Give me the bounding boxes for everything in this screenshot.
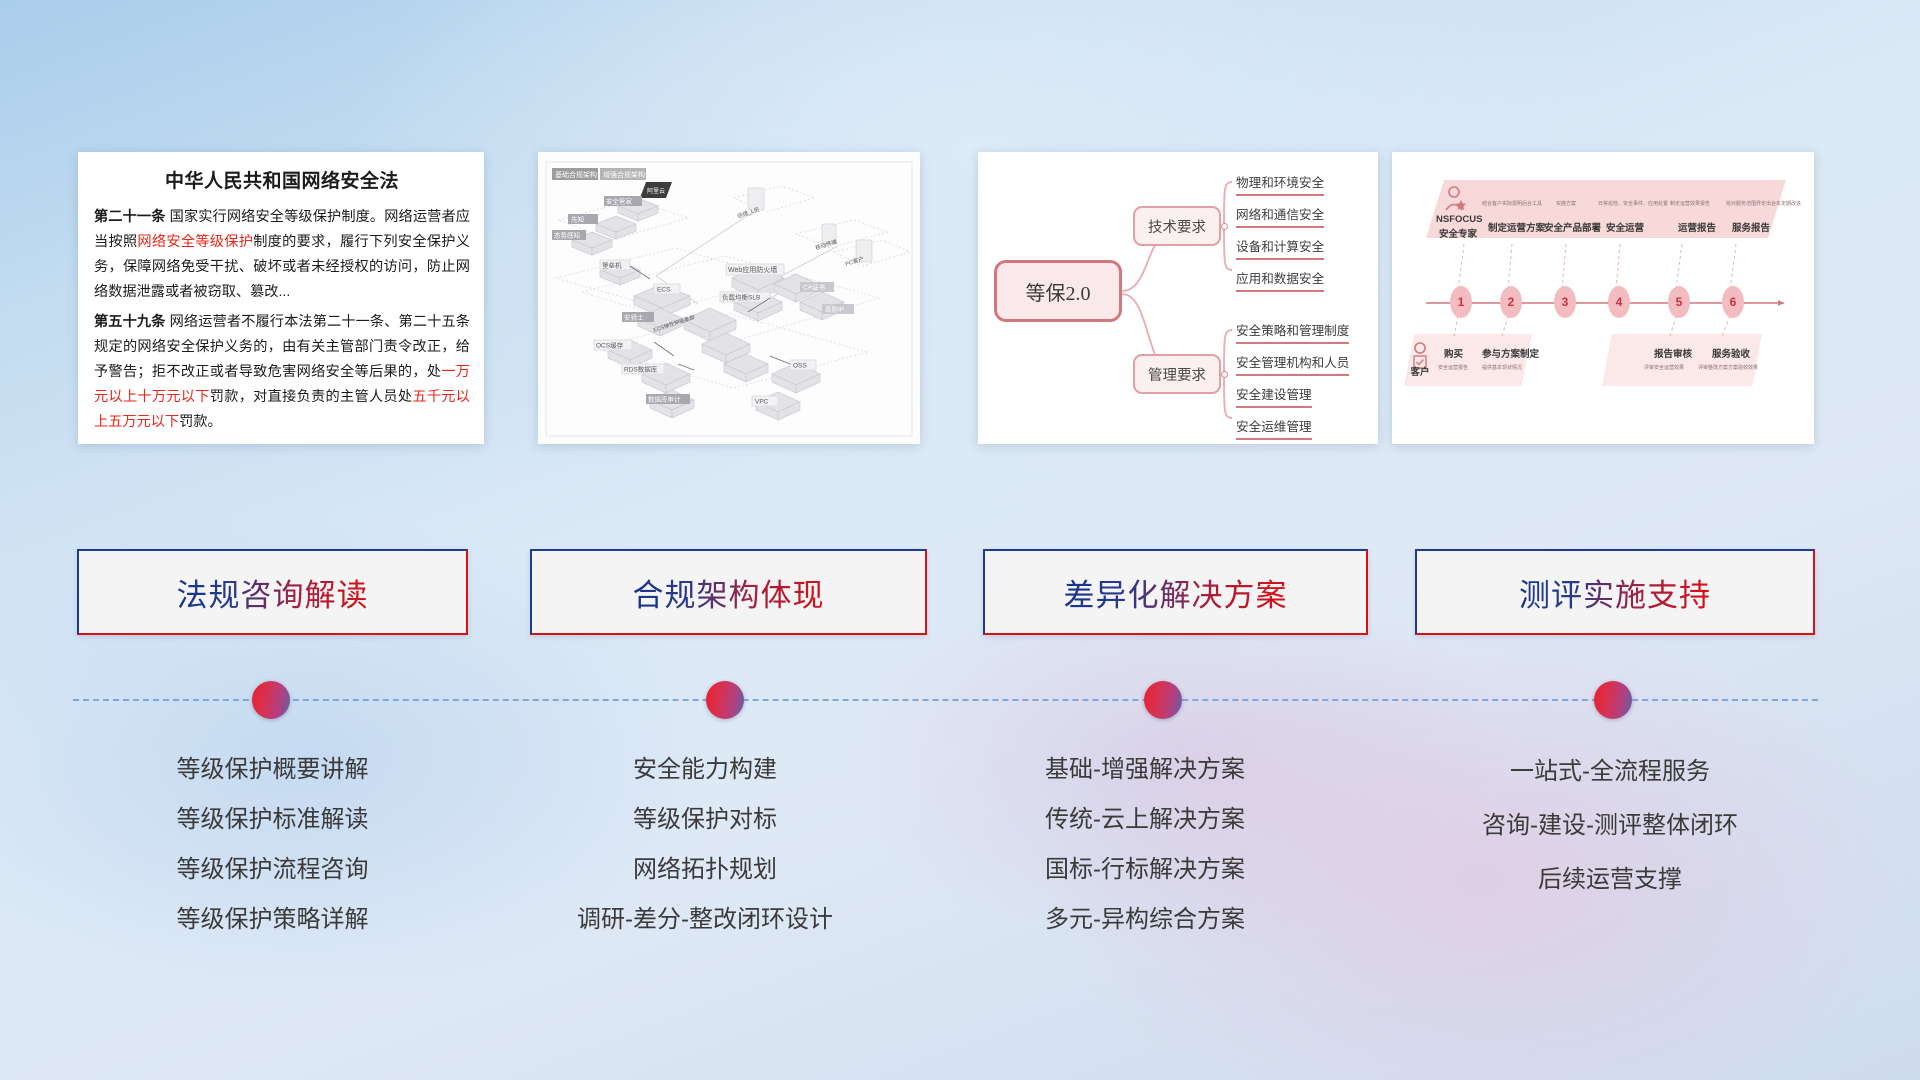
nsfocus-step-number-2: 2 [1500, 286, 1522, 318]
timeline-marker-2[interactable] [706, 681, 744, 719]
nsfocus-step-number-6: 6 [1722, 286, 1744, 318]
law-article-59: 第五十九条 网络运营者不履行本法第二十一条、第二十五条规定的网络安全保护义务的，… [94, 310, 470, 435]
nsfocus-step-number-4: 4 [1608, 286, 1630, 318]
nsfocus-step-5-top-title: 运营报告 [1678, 220, 1716, 234]
list-item: 等级保护对标 [495, 795, 915, 845]
section-items-column-2: 安全能力构建 等级保护对标 网络拓扑规划 调研-差分-整改闭环设计 [495, 745, 915, 945]
nsfocus-step-1-bottom-sub: 安全运营报告 [1438, 364, 1468, 371]
svg-text:高防IP: 高防IP [825, 305, 844, 314]
list-item: 网络拓扑规划 [495, 845, 915, 895]
list-item: 等级保护标准解读 [60, 795, 485, 845]
mindmap-leaf-tech-4: 应用和数据安全 [1236, 268, 1324, 292]
svg-text:阿里云: 阿里云 [647, 187, 665, 195]
list-item: 等级保护策略详解 [60, 895, 485, 945]
nsfocus-step-5-top-sub: 制定运营效果报告 [1670, 200, 1710, 207]
nsfocus-step-4-top-sub: 日常巡检、安全事件、应用处置 [1598, 200, 1668, 207]
section-title-box-4[interactable]: 测评实施支持 [1415, 549, 1815, 635]
nsfocus-step-number-1: 1 [1450, 286, 1472, 318]
nsfocus-step-6-top-sub: 给对服务范围界定出台本定期改进 [1726, 200, 1801, 207]
svg-text:态势感知: 态势感知 [554, 231, 580, 240]
nsfocus-step-6-bottom-sub: 评审整改方案方案验收效果 [1698, 364, 1758, 371]
nsfocus-step-number-5: 5 [1668, 286, 1690, 318]
svg-text:数据库审计: 数据库审计 [648, 395, 681, 404]
svg-text:VPC: VPC [755, 399, 769, 406]
list-item: 国标-行标解决方案 [935, 845, 1355, 895]
section-title-box-3[interactable]: 差异化解决方案 [983, 549, 1368, 635]
law-article-21-label: 第二十一条 [94, 209, 166, 225]
mindmap-branch-tech: 技术要求 [1133, 206, 1221, 246]
cloud-architecture-card: 基础合规架构 增强合规架构 阿里云 [538, 152, 920, 444]
law-body: 中华人民共和国网络安全法 第二十一条 国家实行网络安全等级保护制度。网络运营者应… [78, 152, 484, 444]
nsfocus-step-5-bottom-sub: 评审安全运营效果 [1644, 364, 1684, 371]
mindmap-diagram: 等保2.0 技术要求 物理和环境安全 网络和通信安全 设备和计算安全 应用和数据… [978, 152, 1378, 444]
architecture-svg: 基础合规架构 增强合规架构 阿里云 [538, 152, 920, 444]
section-items-column-1: 等级保护概要讲解 等级保护标准解读 等级保护流程咨询 等级保护策略详解 [60, 745, 485, 945]
law-article-59-text-c: 罚款。 [179, 414, 222, 430]
svg-text:Web应用防火墙: Web应用防火墙 [728, 265, 777, 274]
section-title-label-1: 法规咨询解读 [177, 570, 369, 615]
mindmap-leaf-mgmt-3: 安全建设管理 [1236, 384, 1312, 408]
section-title-box-2[interactable]: 合规架构体现 [530, 549, 927, 635]
nsfocus-step-2-top-sub: 结合客户实际需明后台工具 [1482, 200, 1542, 207]
list-item: 多元-异构综合方案 [935, 895, 1355, 945]
timeline-marker-4[interactable] [1594, 681, 1632, 719]
list-item: 等级保护流程咨询 [60, 845, 485, 895]
nsfocus-customer-role: 客户 [1406, 364, 1434, 378]
nsfocus-timeline-card: NSFOCUS 安全专家 客户 结合客户实际需明后台工具 制定运营方案 实施方案… [1392, 152, 1814, 444]
nsfocus-step-2-bottom-sub: 提供基本现状情况 [1482, 364, 1522, 371]
nsfocus-step-number-3: 3 [1554, 286, 1576, 318]
nsfocus-step-3-top-sub: 实施方案 [1556, 200, 1576, 207]
svg-text:基础合规架构: 基础合规架构 [555, 170, 597, 179]
timeline-dashed-line [73, 699, 1818, 701]
list-item: 后续运营支撑 [1400, 853, 1820, 907]
nsfocus-step-2-top-title: 制定运营方案 [1488, 220, 1545, 234]
svg-text:堡垒机: 堡垒机 [602, 261, 622, 270]
svg-text:安骑士: 安骑士 [624, 313, 644, 322]
mindmap-leaf-tech-3: 设备和计算安全 [1236, 236, 1324, 260]
svg-text:ECS: ECS [657, 287, 671, 294]
svg-text:OCS缓存: OCS缓存 [596, 341, 624, 350]
list-item: 调研-差分-整改闭环设计 [495, 895, 915, 945]
list-item: 咨询-建设-测评整体闭环 [1400, 799, 1820, 853]
svg-text:安全管家: 安全管家 [606, 197, 633, 206]
list-item: 基础-增强解决方案 [935, 745, 1355, 795]
list-item: 安全能力构建 [495, 745, 915, 795]
section-items-column-3: 基础-增强解决方案 传统-云上解决方案 国标-行标解决方案 多元-异构综合方案 [935, 745, 1355, 945]
svg-text:先知: 先知 [571, 215, 584, 224]
law-title: 中华人民共和国网络安全法 [94, 166, 470, 193]
section-title-label-4: 测评实施支持 [1519, 570, 1711, 615]
mindmap-leaf-tech-2: 网络和通信安全 [1236, 204, 1324, 228]
image-card-row: 中华人民共和国网络安全法 第二十一条 国家实行网络安全等级保护制度。网络运营者应… [0, 152, 1920, 452]
nsfocus-step-4-top-title: 安全运营 [1606, 220, 1644, 234]
law-article-59-label: 第五十九条 [94, 314, 166, 330]
section-title-label-2: 合规架构体现 [633, 570, 825, 615]
section-items-column-4: 一站式-全流程服务 咨询-建设-测评整体闭环 后续运营支撑 [1400, 745, 1820, 907]
mindmap-leaf-tech-1: 物理和环境安全 [1236, 172, 1324, 196]
nsfocus-step-1-bottom-title: 购买 [1444, 346, 1463, 360]
nsfocus-step-2-bottom-title: 参与方案制定 [1482, 346, 1539, 360]
mindmap-collapse-dot-mgmt [1221, 371, 1228, 378]
law-article-59-text-b: 罚款，对直接负责的主管人员处 [210, 389, 413, 405]
svg-text:负载均衡SLB: 负载均衡SLB [722, 293, 760, 302]
svg-text:RDS数据库: RDS数据库 [624, 365, 658, 374]
svg-text:OSS: OSS [793, 363, 807, 370]
nsfocus-expert-role: 安全专家 [1436, 226, 1480, 240]
nsfocus-step-3-top-title: 安全产品部署 [1544, 220, 1601, 234]
nsfocus-step-6-top-title: 服务报告 [1732, 220, 1770, 234]
svg-text:CA证书: CA证书 [803, 283, 826, 292]
architecture-diagram: 基础合规架构 增强合规架构 阿里云 [538, 152, 920, 444]
law-text-card: 中华人民共和国网络安全法 第二十一条 国家实行网络安全等级保护制度。网络运营者应… [78, 152, 484, 444]
mindmap-card: 等保2.0 技术要求 物理和环境安全 网络和通信安全 设备和计算安全 应用和数据… [978, 152, 1378, 444]
section-title-row: 法规咨询解读 合规架构体现 差异化解决方案 测评实施支持 [0, 549, 1920, 641]
section-title-label-3: 差异化解决方案 [1064, 570, 1288, 615]
mindmap-leaf-mgmt-1: 安全策略和管理制度 [1236, 320, 1349, 344]
law-article-21-highlight: 网络安全等级保护 [137, 234, 253, 250]
nsfocus-step-6-bottom-title: 服务验收 [1712, 346, 1750, 360]
list-item: 一站式-全流程服务 [1400, 745, 1820, 799]
nsfocus-step-5-bottom-title: 报告审核 [1654, 346, 1692, 360]
mindmap-leaf-mgmt-4: 安全运维管理 [1236, 416, 1312, 440]
timeline-marker-1[interactable] [252, 681, 290, 719]
svg-text:增强合规架构: 增强合规架构 [603, 170, 645, 179]
timeline-marker-3[interactable] [1144, 681, 1182, 719]
mindmap-leaf-mgmt-2: 安全管理机构和人员 [1236, 352, 1349, 376]
nsfocus-diagram: NSFOCUS 安全专家 客户 结合客户实际需明后台工具 制定运营方案 实施方案… [1392, 152, 1814, 444]
list-item: 传统-云上解决方案 [935, 795, 1355, 845]
mindmap-branch-mgmt: 管理要求 [1133, 354, 1221, 394]
section-title-box-1[interactable]: 法规咨询解读 [77, 549, 468, 635]
list-item: 等级保护概要讲解 [60, 745, 485, 795]
mindmap-root-node: 等保2.0 [994, 260, 1122, 322]
nsfocus-expert-brand: NSFOCUS [1436, 214, 1480, 225]
mindmap-collapse-dot-tech [1221, 223, 1228, 230]
law-article-21: 第二十一条 国家实行网络安全等级保护制度。网络运营者应当按照网络安全等级保护制度… [94, 205, 470, 305]
